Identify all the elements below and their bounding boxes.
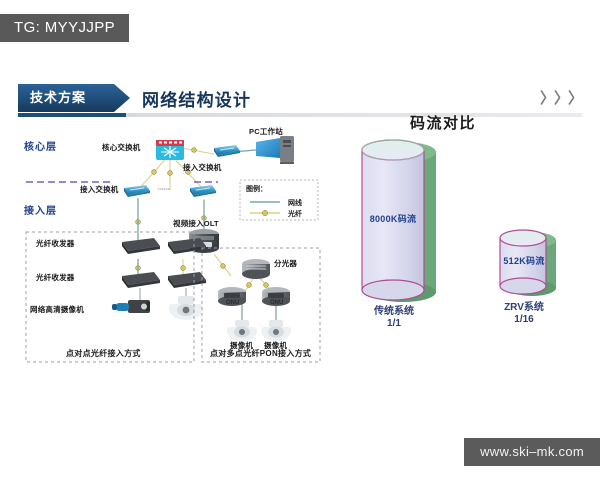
- traditional-system-value-label: 8000K码流: [360, 212, 426, 225]
- access-switch-left-icon: [124, 185, 150, 197]
- bitrate-comparison-chart: 码流对比: [348, 112, 582, 402]
- traditional-system-caption-ratio: 1/1: [387, 318, 401, 329]
- pc-workstation-icon: [256, 136, 294, 164]
- traditional-system-caption: 传统系统 1/1: [356, 306, 432, 330]
- zrv-system-caption-ratio: 1/16: [514, 314, 533, 325]
- video-olt-label: 视频接入OLT: [173, 218, 219, 229]
- p2p-fiber-group-caption: 点对点光纤接入方式: [66, 348, 141, 359]
- access-switch-left-label: 接入交换机: [80, 184, 119, 195]
- bullet-camera-icon: [112, 300, 150, 313]
- access-switch-right-label: 接入交换机: [183, 162, 222, 173]
- chevron-right-icon: 〉〉〉: [540, 87, 582, 108]
- slide-canvas: 技术方案 网络结构设计 〉〉〉: [18, 72, 582, 412]
- page-title: 网络结构设计: [142, 86, 251, 111]
- watermark-text: www.ski–mk.com: [480, 444, 584, 459]
- onu-left-label: ONU: [226, 300, 239, 306]
- legend-fiber-label: 光纤: [288, 209, 302, 219]
- fiber-transceiver-lower-label: 光纤收发器: [36, 272, 75, 283]
- section-tab-label: 技术方案: [30, 88, 120, 108]
- access-switch-middle-icon: [190, 185, 216, 197]
- sidebar-item-access-layer: 接入层: [24, 202, 57, 217]
- legend-title: 图例：: [246, 184, 267, 194]
- pon-fiber-group-caption: 点对多点光纤PON接入方式: [210, 348, 311, 359]
- fiber-transceiver-icons: [122, 238, 206, 288]
- sidebar-item-core-layer: 核心层: [24, 138, 57, 153]
- zrv-system-caption-name: ZRV系统: [504, 302, 544, 313]
- hd-network-camera-label: 网络高清摄像机: [30, 304, 84, 315]
- zrv-system-value-label: 512K码流: [498, 254, 550, 267]
- network-topology-diagram: 核心层 接入层 核心交换机 PC工作站 接入交换机 接入交换机 视频接入OLT …: [18, 124, 328, 404]
- traditional-system-caption-name: 传统系统: [374, 306, 414, 317]
- dome-camera-icon-left: [169, 296, 203, 320]
- onu-right-label: ONU: [270, 300, 283, 306]
- splitter-label: 分光器: [274, 258, 297, 269]
- splitter-icon: [242, 259, 270, 279]
- core-switch-label: 核心交换机: [102, 142, 141, 153]
- fiber-transceiver-upper-label: 光纤收发器: [36, 238, 75, 249]
- zrv-system-caption: ZRV系统 1/16: [488, 302, 560, 326]
- legend-ethernet-label: 网线: [288, 198, 302, 208]
- dome-camera-icons-pon: [227, 320, 291, 341]
- access-switch-right-icon: [214, 145, 240, 157]
- pc-workstation-label: PC工作站: [249, 126, 283, 137]
- watermark: www.ski–mk.com: [464, 438, 600, 466]
- core-switch-icon: [156, 140, 184, 160]
- tg-badge: TG: MYYJJPP: [0, 14, 129, 42]
- tg-badge-text: TG: MYYJJPP: [14, 19, 115, 36]
- switch-stack-dots: ······: [158, 187, 170, 193]
